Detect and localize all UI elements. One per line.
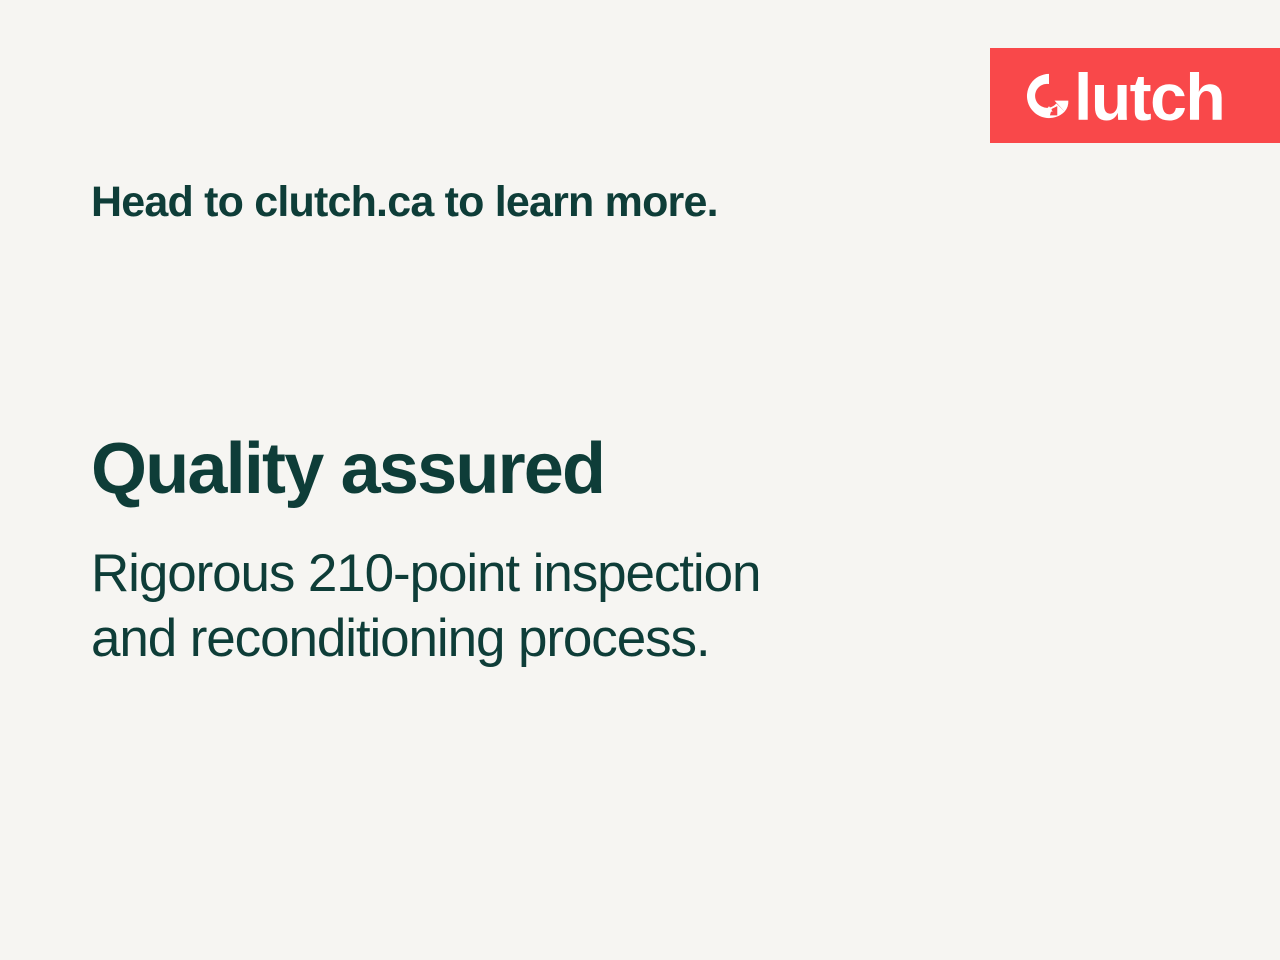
clutch-logo[interactable]: lutch [1026, 48, 1224, 143]
brand-banner: lutch [990, 48, 1280, 143]
page-title: Quality assured [91, 432, 604, 508]
clutch-c-icon [1026, 73, 1072, 119]
subhead-text: Rigorous 210-point inspection and recond… [91, 542, 760, 671]
brand-wordmark-text: lutch [1074, 64, 1224, 130]
slide-canvas: lutch Head to clutch.ca to learn more. Q… [0, 0, 1280, 960]
subhead-line-1: Rigorous 210-point inspection [91, 542, 760, 607]
eyebrow-text: Head to clutch.ca to learn more. [91, 178, 718, 227]
subhead-line-2: and reconditioning process. [91, 607, 760, 672]
